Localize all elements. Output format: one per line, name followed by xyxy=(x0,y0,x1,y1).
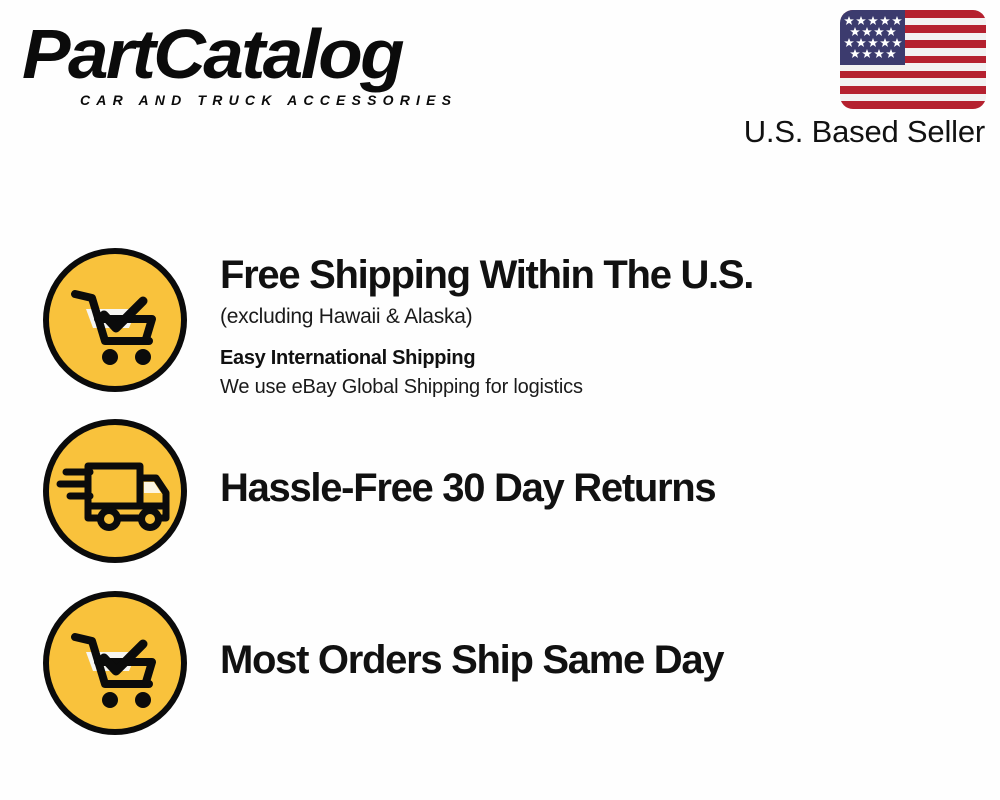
flag-stripe xyxy=(840,101,986,109)
us-flag-icon xyxy=(840,10,986,109)
feature-subtext-strong: Easy International Shipping xyxy=(220,345,753,371)
brand-tagline: CAR AND TRUCK ACCESSORIES xyxy=(80,92,492,108)
flag-stars xyxy=(840,10,905,65)
feature-subtext-light: We use eBay Global Shipping for logistic… xyxy=(220,373,753,401)
feature-text: Free Shipping Within The U.S. (excluding… xyxy=(220,245,753,401)
us-based-seller-label: U.S. Based Seller xyxy=(744,113,985,151)
feature-list: Free Shipping Within The U.S. (excluding… xyxy=(0,170,1000,770)
feature-item: Free Shipping Within The U.S. (excluding… xyxy=(40,245,753,401)
flag-stripe xyxy=(840,78,986,86)
us-based-seller-badge: U.S. Based Seller xyxy=(710,10,986,151)
feature-item: Hassle-Free 30 Day Returns xyxy=(40,416,715,566)
feature-text: Most Orders Ship Same Day xyxy=(220,588,723,684)
shopping-cart-check-icon xyxy=(40,588,190,738)
flag-stripe xyxy=(840,71,986,79)
delivery-truck-icon xyxy=(40,416,190,566)
flag-stripe xyxy=(840,94,986,102)
partcatalog-logo: PartCatalog CAR AND TRUCK ACCESSORIES xyxy=(22,18,492,118)
feature-heading: Most Orders Ship Same Day xyxy=(220,636,723,684)
feature-heading: Free Shipping Within The U.S. xyxy=(220,251,753,299)
shopping-cart-check-icon xyxy=(40,245,190,395)
brand-wordmark: PartCatalog xyxy=(22,18,511,90)
feature-item: Most Orders Ship Same Day xyxy=(40,588,723,738)
flag-canton xyxy=(840,10,905,65)
feature-text: Hassle-Free 30 Day Returns xyxy=(220,416,715,512)
seller-info-banner: PartCatalog CAR AND TRUCK ACCESSORIES xyxy=(0,0,1000,800)
feature-subtext: (excluding Hawaii & Alaska) xyxy=(220,303,753,331)
flag-stripe xyxy=(840,86,986,94)
feature-heading: Hassle-Free 30 Day Returns xyxy=(220,464,715,512)
banner-header: PartCatalog CAR AND TRUCK ACCESSORIES xyxy=(0,0,1000,170)
